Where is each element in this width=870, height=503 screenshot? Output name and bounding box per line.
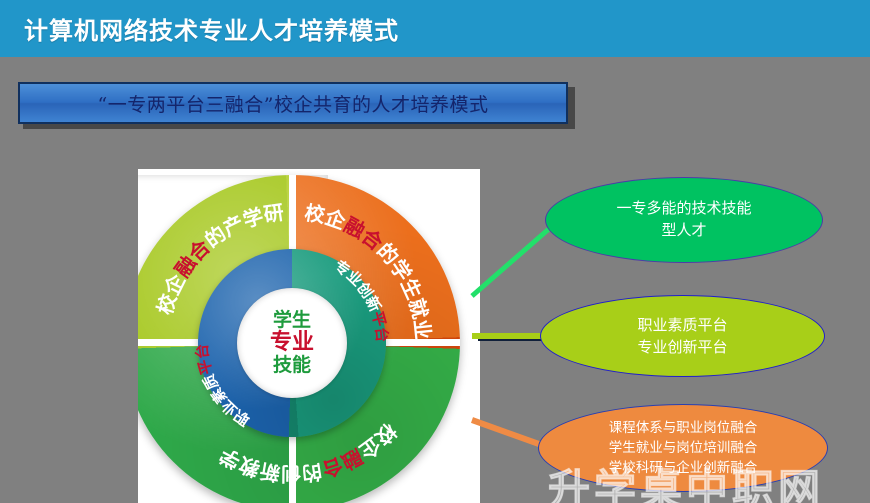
callout-platforms-line1: 职业素质平台 — [637, 314, 727, 337]
callout-integration-line2: 学生就业与岗位培训融合 — [609, 438, 758, 458]
callout-platforms[interactable]: 职业素质平台 专业创新平台 — [540, 295, 825, 377]
callout-talent-line2: 型人才 — [616, 220, 751, 242]
callout-platforms-line2: 专业创新平台 — [637, 336, 727, 359]
callout-integration-line1: 课程体系与职业岗位融合 — [609, 418, 758, 438]
callout-integration[interactable]: 课程体系与职业岗位融合 学生就业与岗位培训融合 学校科研与企业创新融合 — [538, 404, 828, 492]
callout-talent[interactable]: 一专多能的技术技能 型人才 — [545, 177, 823, 263]
callout-integration-line3: 学校科研与企业创新融合 — [609, 458, 758, 478]
callout-talent-line1: 一专多能的技术技能 — [616, 198, 751, 220]
slide-canvas: 计算机网络技术专业人才培养模式 “一专两平台三融合”校企共育的人才培养模式 学生… — [0, 0, 870, 503]
